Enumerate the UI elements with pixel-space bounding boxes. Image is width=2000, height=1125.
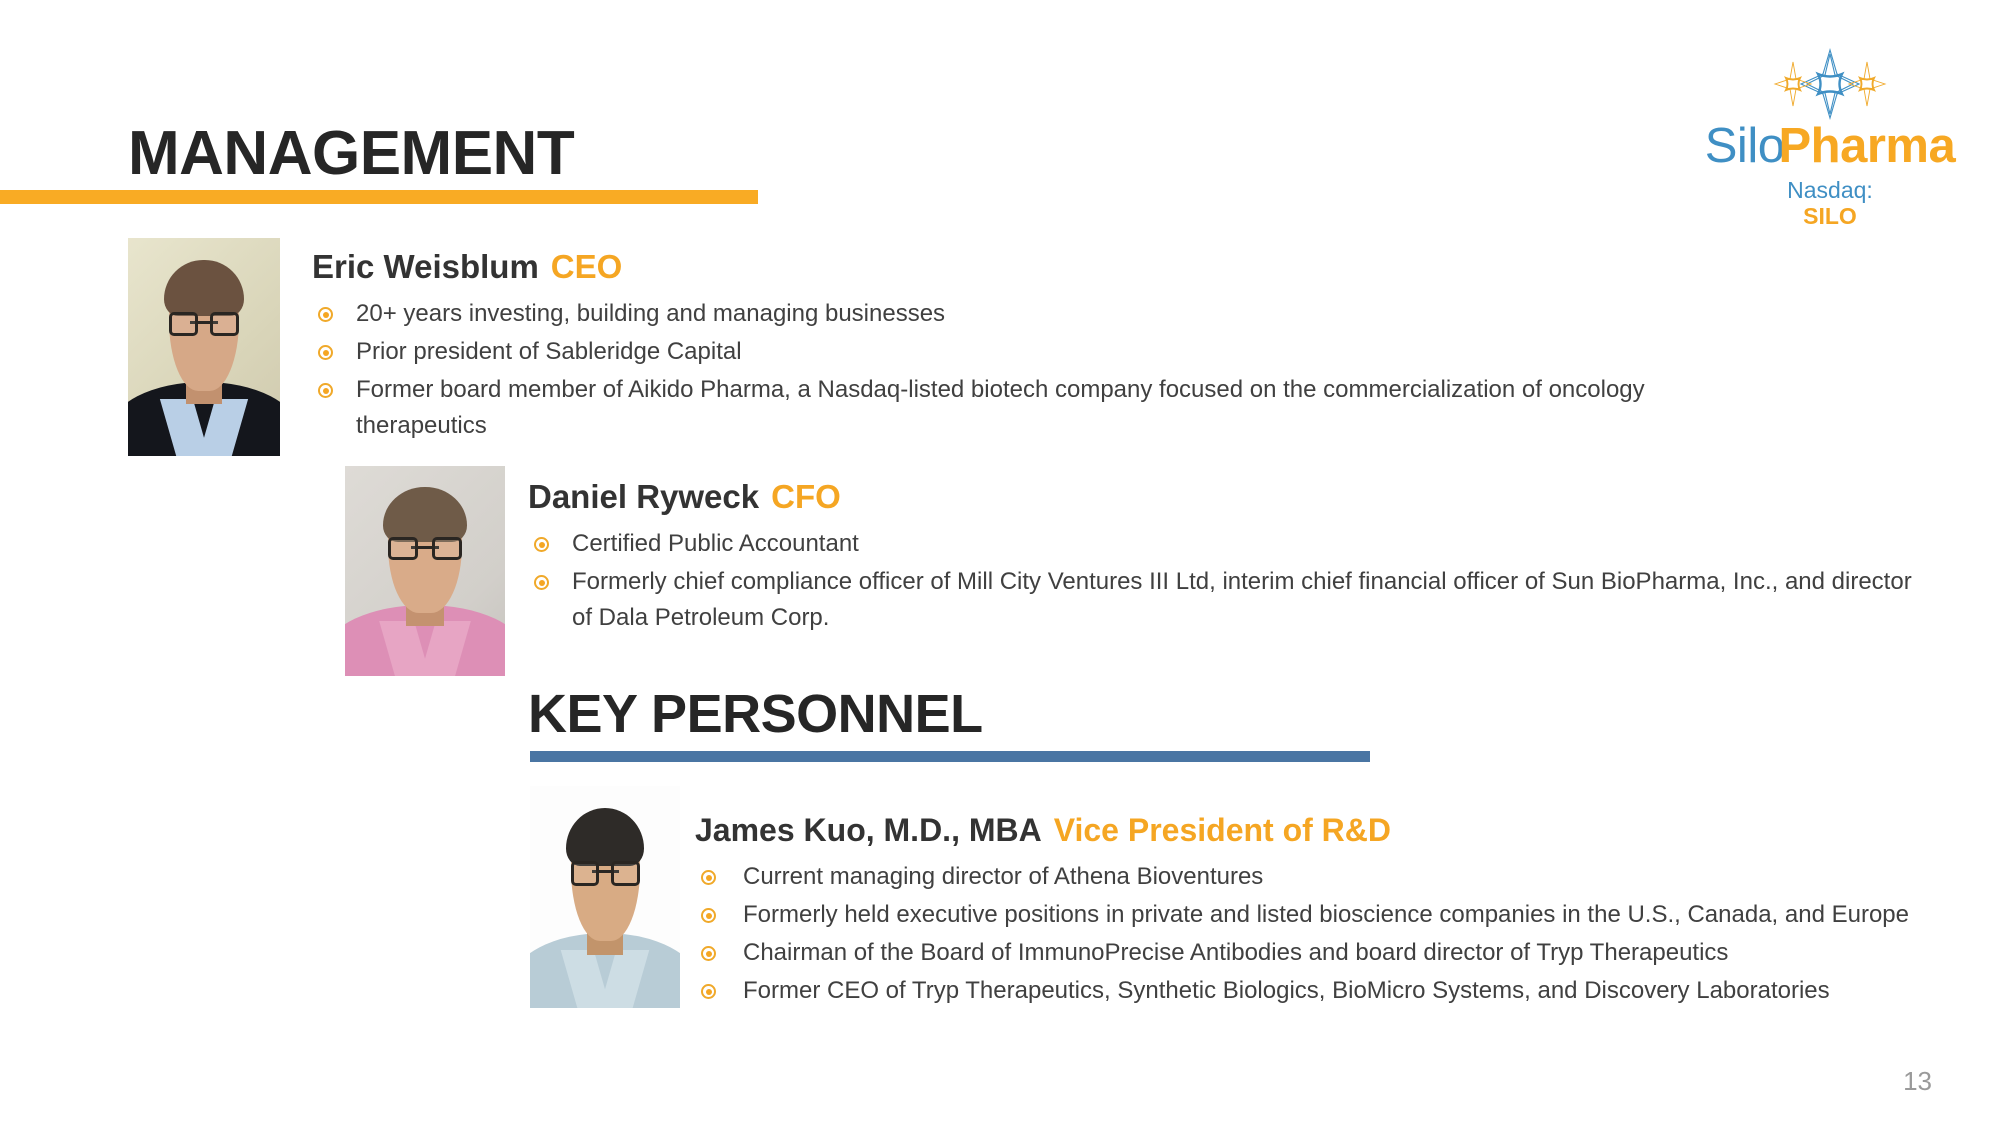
logo-word-silo: Silo <box>1705 119 1785 173</box>
person-bullet-list: 20+ years investing, building and managi… <box>312 296 1712 444</box>
list-item-text: Current managing director of Athena Biov… <box>743 863 1263 890</box>
list-item-text: Chairman of the Board of ImmunoPrecise A… <box>743 939 1728 966</box>
list-item: Formerly held executive positions in pri… <box>695 897 1995 933</box>
list-item-text: Formerly chief compliance officer of Mil… <box>572 568 1912 631</box>
section-rule-key-personnel <box>530 751 1370 762</box>
person-bullet-list: Current managing director of Athena Biov… <box>695 859 1995 1009</box>
logo-ticker-symbol: SILO <box>1700 203 1960 229</box>
person-bullet-list: Certified Public Accountant Formerly chi… <box>528 526 1928 636</box>
logo-word-pharma: Pharma <box>1778 119 1955 173</box>
list-item-text: Former board member of Aikido Pharma, a … <box>356 376 1645 439</box>
list-item: Current managing director of Athena Biov… <box>695 859 1995 895</box>
bullet-dot-icon <box>318 383 333 398</box>
person-name-row: Eric WeisblumCEO <box>312 248 1712 286</box>
list-item: Certified Public Accountant <box>528 526 1928 562</box>
headshot-daniel-ryweck <box>345 466 505 676</box>
list-item: Formerly chief compliance officer of Mil… <box>528 564 1928 636</box>
bullet-dot-icon <box>701 908 716 923</box>
person-role: CEO <box>551 248 623 285</box>
section-heading-management: MANAGEMENT <box>128 118 574 189</box>
company-logo-block: SiloPharma Nasdaq: SILO <box>1700 48 1960 230</box>
list-item: Former CEO of Tryp Therapeutics, Synthet… <box>695 973 1995 1009</box>
silopharma-starburst-logo-icon <box>1765 48 1895 120</box>
person-name: James Kuo, M.D., MBA <box>695 812 1042 848</box>
list-item-text: Formerly held executive positions in pri… <box>743 901 1909 928</box>
bullet-dot-icon <box>701 946 716 961</box>
headshot-james-kuo <box>530 786 680 1008</box>
bullet-dot-icon <box>701 870 716 885</box>
headshot-eric-weisblum <box>128 238 280 456</box>
section-rule-management <box>0 190 758 204</box>
person-name: Daniel Ryweck <box>528 478 759 515</box>
person-name-row: James Kuo, M.D., MBAVice President of R&… <box>695 812 1995 849</box>
list-item-text: 20+ years investing, building and managi… <box>356 300 945 327</box>
list-item: Chairman of the Board of ImmunoPrecise A… <box>695 935 1995 971</box>
logo-wordmark: SiloPharma <box>1700 122 1960 171</box>
bullet-dot-icon <box>318 345 333 360</box>
list-item-text: Certified Public Accountant <box>572 530 859 557</box>
person-role: Vice President of R&D <box>1054 812 1391 848</box>
list-item: Prior president of Sableridge Capital <box>312 334 1712 370</box>
list-item: Former board member of Aikido Pharma, a … <box>312 372 1712 444</box>
bullet-dot-icon <box>701 984 716 999</box>
page-number: 13 <box>1903 1066 1932 1097</box>
person-name-row: Daniel RyweckCFO <box>528 478 1928 516</box>
list-item-text: Prior president of Sableridge Capital <box>356 338 742 365</box>
list-item-text: Former CEO of Tryp Therapeutics, Synthet… <box>743 977 1830 1004</box>
bullet-dot-icon <box>534 537 549 552</box>
person-name: Eric Weisblum <box>312 248 539 285</box>
section-heading-key-personnel: KEY PERSONNEL <box>528 683 983 745</box>
list-item: 20+ years investing, building and managi… <box>312 296 1712 332</box>
person-role: CFO <box>771 478 841 515</box>
bullet-dot-icon <box>534 575 549 590</box>
logo-exchange-label: Nasdaq: <box>1700 177 1960 203</box>
bullet-dot-icon <box>318 307 333 322</box>
